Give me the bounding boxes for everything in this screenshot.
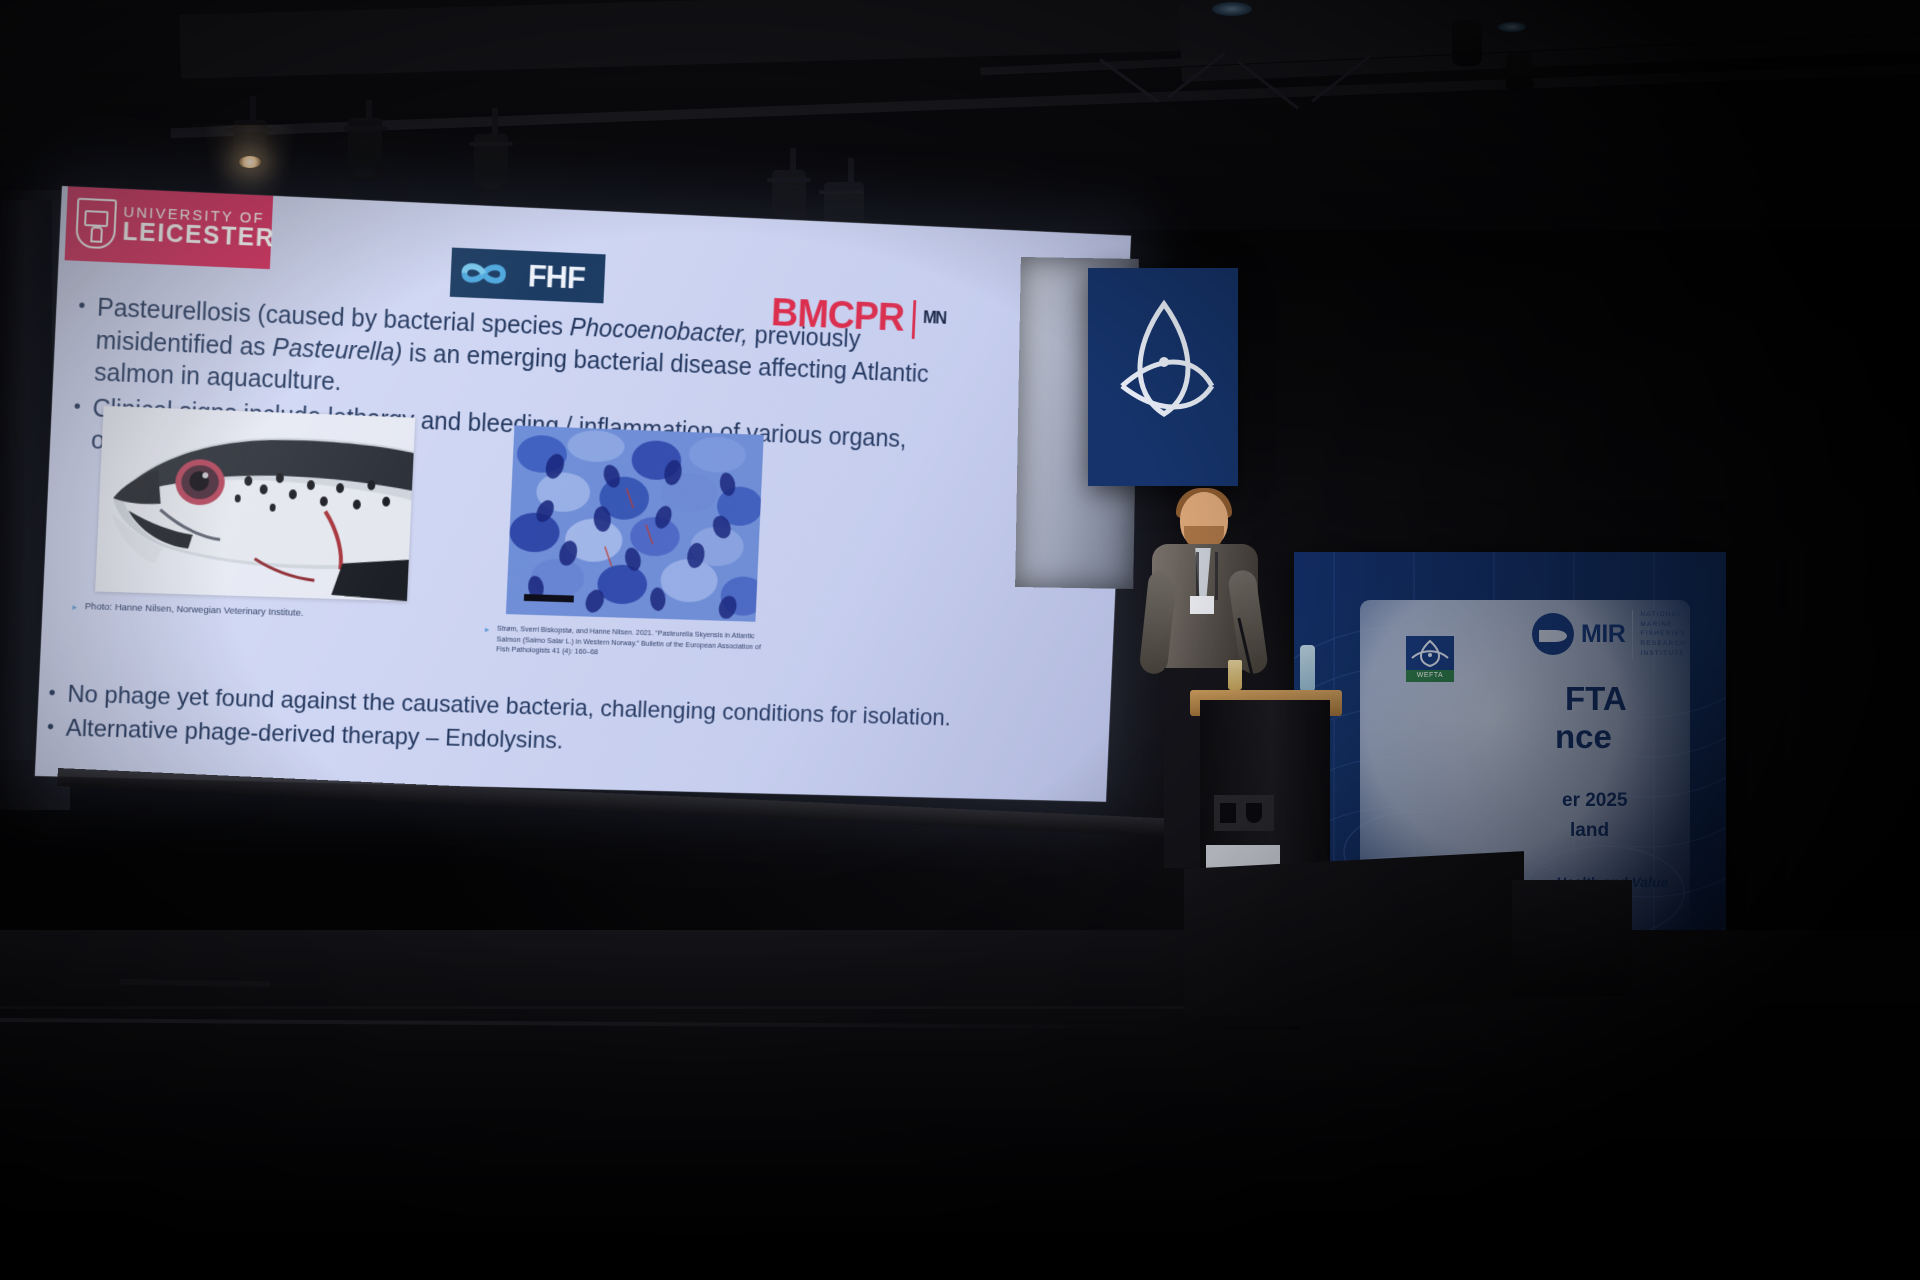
banner-title-line1: FTA bbox=[1565, 680, 1627, 718]
drinking-glass bbox=[1228, 660, 1242, 690]
leicester-shield-icon bbox=[75, 198, 117, 250]
lamp-lens bbox=[480, 178, 502, 190]
lamp-lens bbox=[1458, 52, 1480, 64]
stage-light-icon bbox=[1506, 52, 1532, 92]
lectern-plate-shield-icon bbox=[1246, 803, 1262, 823]
wefta-fish-icon bbox=[1406, 636, 1454, 670]
stage-light-icon bbox=[474, 134, 508, 192]
fhf-logo: FHF bbox=[450, 248, 606, 304]
bullet-marker: • bbox=[71, 391, 81, 456]
leicester-wordmark: UNIVERSITY OF LEICESTER bbox=[122, 204, 276, 251]
university-of-leicester-logo: UNIVERSITY OF LEICESTER bbox=[65, 186, 274, 269]
stage-light-icon bbox=[1452, 20, 1482, 66]
ceiling-downlight-icon bbox=[1212, 2, 1252, 16]
wefta-logo: WEFTA bbox=[1406, 636, 1454, 682]
stage-light-icon bbox=[233, 120, 267, 170]
presenter-lanyard bbox=[1196, 552, 1218, 600]
presenter bbox=[1146, 492, 1264, 722]
projected-slide: UNIVERSITY OF LEICESTER FHF BMCPR ᴹᴺ • P… bbox=[35, 186, 1131, 802]
stage-light-icon bbox=[348, 118, 382, 180]
auditorium-scene: UNIVERSITY OF LEICESTER FHF BMCPR ᴹᴺ • P… bbox=[0, 0, 1920, 1280]
slide-bullets-bottom: • No phage yet found against the causati… bbox=[46, 678, 1009, 771]
projection-screen-area: UNIVERSITY OF LEICESTER FHF BMCPR ᴹᴺ • P… bbox=[34, 186, 1131, 811]
banner-place: land bbox=[1570, 820, 1609, 842]
bullet-marker: • bbox=[46, 712, 54, 743]
stage-riser bbox=[1184, 851, 1524, 1017]
banner-title-line2: nce bbox=[1555, 718, 1612, 756]
lectern-plate bbox=[1214, 795, 1274, 831]
mir-fish-icon bbox=[1532, 613, 1574, 655]
wefta-label: WEFTA bbox=[1406, 670, 1454, 682]
caption-text: Photo: Hanne Nilsen, Norwegian Veterinar… bbox=[85, 601, 304, 619]
leicester-line2: LEICESTER bbox=[122, 220, 275, 252]
mir-subtitle-line: INSTITUTE bbox=[1640, 649, 1686, 659]
mir-subtitle-line: NATIONAL bbox=[1640, 610, 1686, 620]
micrograph-illustration bbox=[506, 425, 764, 621]
mir-subtitle-line: RESEARCH bbox=[1640, 639, 1686, 649]
mir-subtitle: NATIONAL MARINE FISHERIES RESEARCH INSTI… bbox=[1632, 610, 1686, 659]
ceiling-downlight-icon bbox=[1498, 22, 1526, 32]
caption-text: Strøm, Sverri Biskopstø, and Hanne Nilse… bbox=[496, 624, 771, 663]
lamp-yoke bbox=[767, 178, 811, 182]
floor-marking bbox=[0, 1006, 1200, 1009]
banner-date: er 2025 bbox=[1562, 790, 1628, 812]
salmon-head-photo bbox=[95, 406, 415, 601]
infinity-icon bbox=[458, 258, 523, 290]
bullet-marker: • bbox=[48, 678, 56, 709]
figure-caption-citation: ▸ Strøm, Sverri Biskopstø, and Hanne Nil… bbox=[484, 623, 771, 662]
mir-subtitle-line: MARINE bbox=[1640, 620, 1686, 630]
stage-floor bbox=[0, 930, 1920, 1280]
histology-micrograph bbox=[506, 425, 764, 621]
salmon-illustration bbox=[95, 406, 415, 601]
caption-marker-icon: ▸ bbox=[485, 623, 490, 636]
lamp-lens bbox=[354, 166, 376, 178]
lamp-yoke bbox=[469, 142, 513, 146]
stage-light-icon bbox=[772, 170, 806, 226]
caption-marker-icon: ▸ bbox=[72, 601, 77, 615]
lamp-yoke bbox=[343, 126, 387, 130]
lectern-plate-mark bbox=[1220, 803, 1236, 823]
mir-acronym: MIR bbox=[1581, 622, 1625, 647]
figure-caption-photo: ▸ Photo: Hanne Nilsen, Norwegian Veterin… bbox=[72, 601, 304, 621]
lighting-truss bbox=[170, 64, 1920, 138]
fhf-wordmark: FHF bbox=[527, 257, 585, 296]
presenter-badge bbox=[1190, 596, 1214, 614]
lamp-lens bbox=[1512, 78, 1534, 90]
mir-logo: MIR NATIONAL MARINE FISHERIES RESEARCH I… bbox=[1532, 610, 1686, 659]
wefta-flag bbox=[1088, 268, 1238, 486]
fish-triquetra-icon bbox=[1108, 290, 1220, 440]
lamp-yoke bbox=[819, 190, 863, 194]
water-bottle bbox=[1300, 645, 1315, 691]
stage-riser bbox=[1512, 880, 1632, 996]
bullet-marker: • bbox=[75, 291, 86, 389]
mir-subtitle-line: FISHERIES bbox=[1640, 629, 1686, 639]
